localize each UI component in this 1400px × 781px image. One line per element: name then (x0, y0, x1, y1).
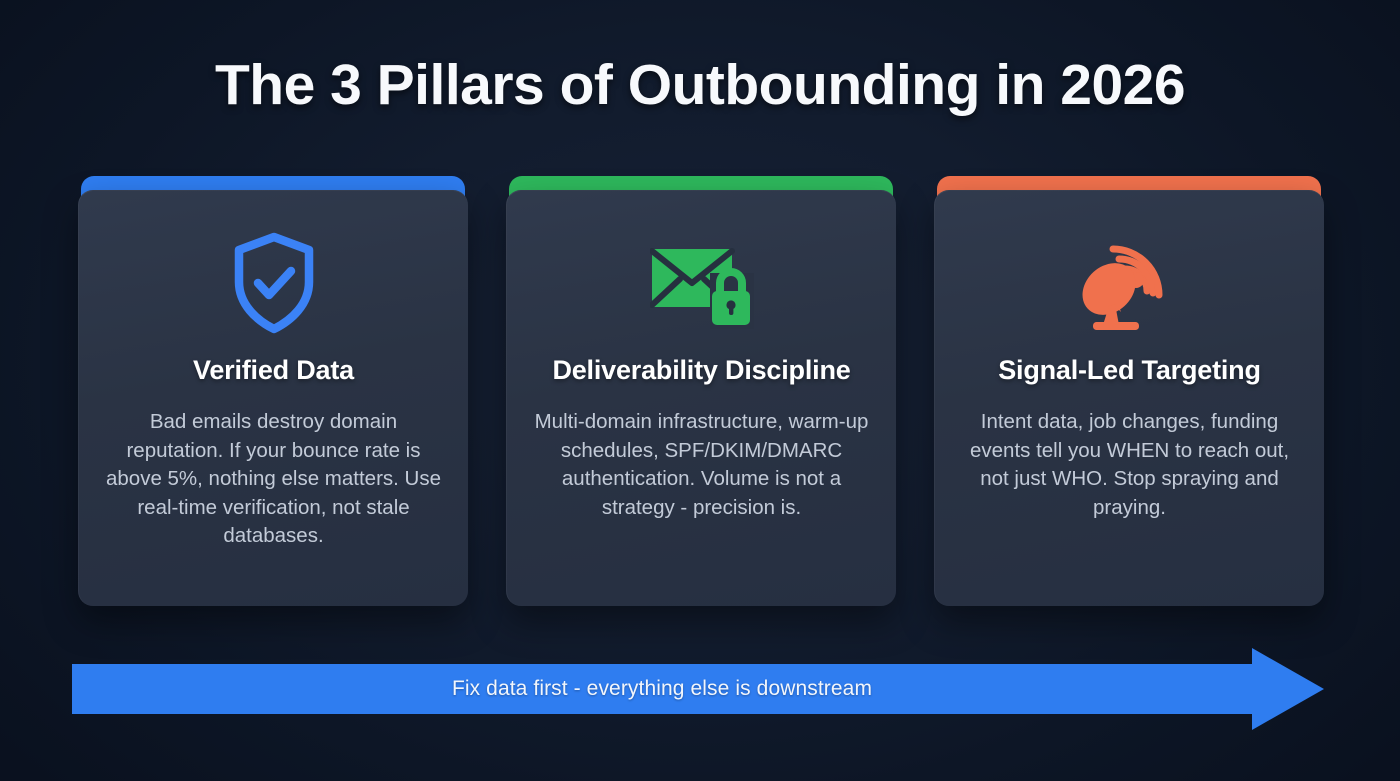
card-surface: Deliverability Discipline Multi-domain i… (506, 190, 896, 606)
card-surface: Verified Data Bad emails destroy domain … (78, 190, 468, 606)
downstream-arrow-banner[interactable]: Fix data first - everything else is down… (72, 648, 1324, 730)
icon-container (228, 229, 320, 341)
card-title: Verified Data (193, 355, 354, 386)
pillar-card-signal-led-targeting[interactable]: Signal-Led Targeting Intent data, job ch… (934, 176, 1324, 606)
banner-label: Fix data first - everything else is down… (72, 648, 1252, 730)
icon-container (650, 229, 754, 341)
card-body-text: Intent data, job changes, funding events… (959, 408, 1300, 522)
infographic-canvas: The 3 Pillars of Outbounding in 2026 Ver… (0, 0, 1400, 781)
card-title: Deliverability Discipline (552, 355, 850, 386)
shield-check-icon (228, 230, 320, 341)
card-body-text: Bad emails destroy domain reputation. If… (103, 408, 444, 551)
icon-container (1081, 229, 1179, 341)
card-body-text: Multi-domain infrastructure, warm-up sch… (531, 408, 872, 522)
envelope-lock-icon (650, 237, 754, 334)
card-surface: Signal-Led Targeting Intent data, job ch… (934, 190, 1324, 606)
page-title: The 3 Pillars of Outbounding in 2026 (0, 52, 1400, 118)
pillars-row: Verified Data Bad emails destroy domain … (78, 176, 1324, 606)
satellite-dish-icon (1081, 233, 1179, 338)
pillar-card-verified-data[interactable]: Verified Data Bad emails destroy domain … (78, 176, 468, 606)
pillar-card-deliverability-discipline[interactable]: Deliverability Discipline Multi-domain i… (506, 176, 896, 606)
card-title: Signal-Led Targeting (998, 355, 1261, 386)
